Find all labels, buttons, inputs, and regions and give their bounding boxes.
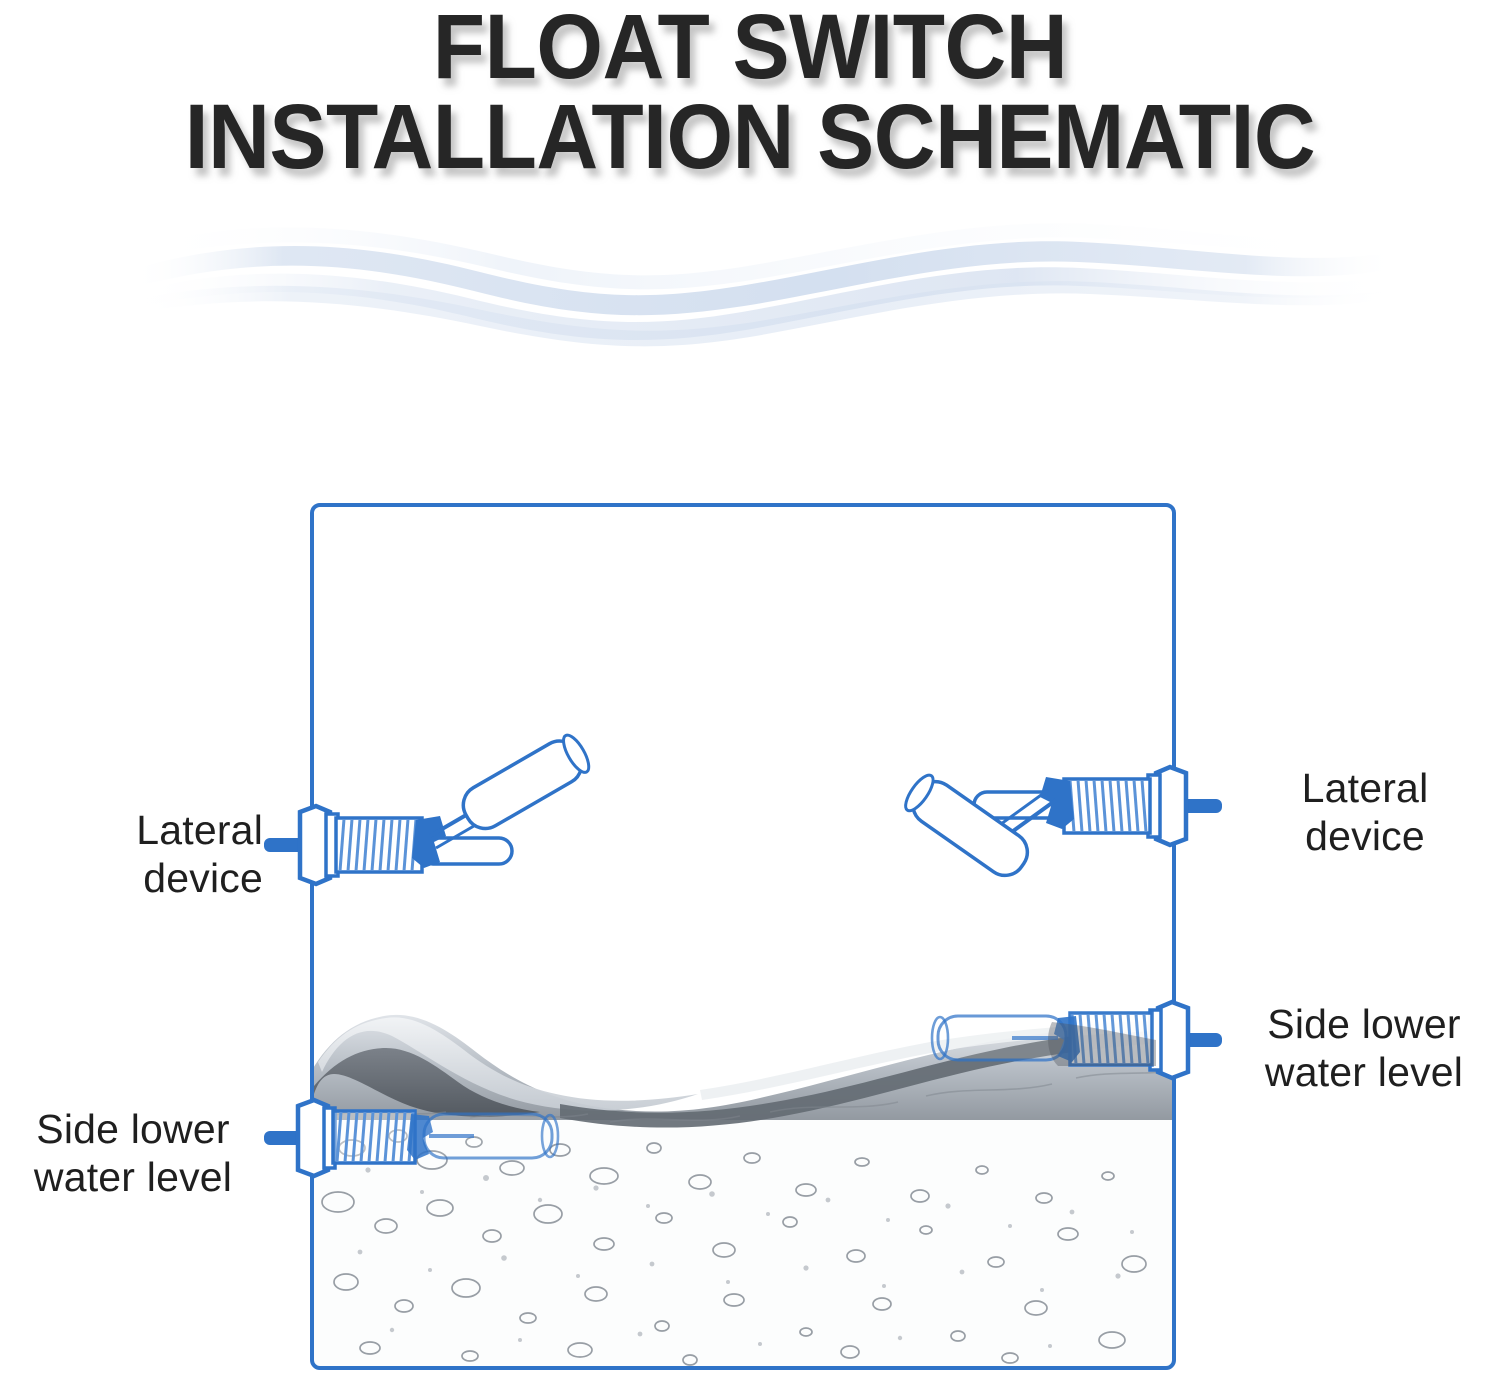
wave-ribbon-decoration [130,223,1398,346]
label-line-1: Lateral [1302,765,1429,811]
label-side-lower-water-level-right: Side lower water level [1233,1000,1495,1097]
label-line-1: Side lower [36,1106,229,1152]
label-line-2: water level [34,1154,232,1200]
label-line-1: Lateral [136,807,263,853]
label-side-lower-water-level-left: Side lower water level [2,1105,264,1202]
label-lateral-device-left: Lateral device [88,806,263,903]
schematic-page: FLOAT SWITCH INSTALLATION SCHEMATIC [0,0,1500,1377]
label-lateral-device-right: Lateral device [1240,764,1490,861]
label-line-2: device [1305,813,1425,859]
label-line-2: water level [1265,1049,1463,1095]
label-line-1: Side lower [1267,1001,1460,1047]
water-body [312,1015,1174,1370]
label-line-2: device [143,855,263,901]
